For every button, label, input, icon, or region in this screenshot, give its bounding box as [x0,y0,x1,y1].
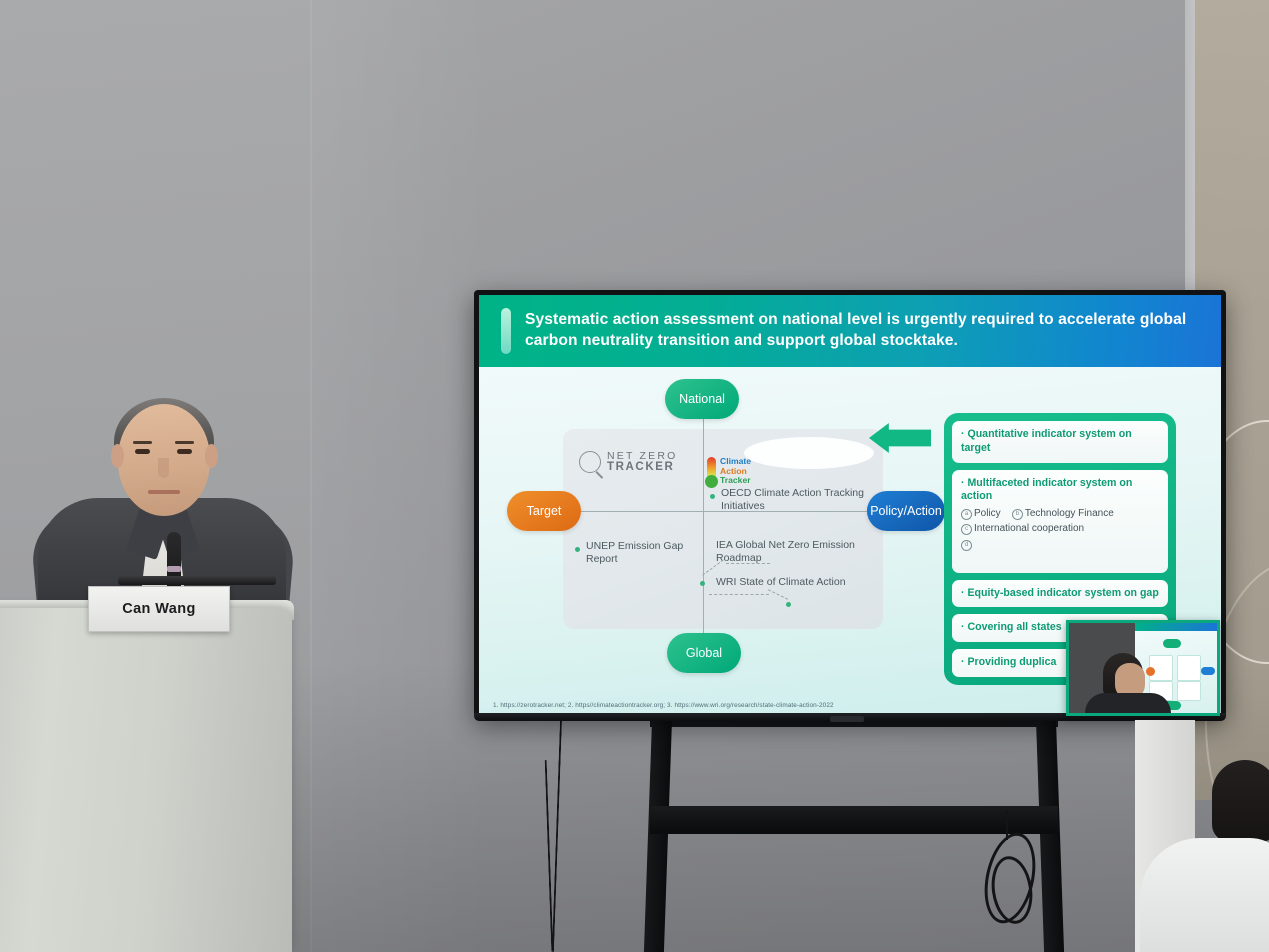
speaker-nose [158,458,169,478]
climate-action-tracker-logo: Climate Action Tracker [707,457,751,486]
attendee-shoulders [1140,838,1269,952]
node-wri: WRI State of Climate Action [716,576,876,589]
speaker-eye-right [177,449,192,454]
title-accent-bar [501,308,511,354]
circled-marker-c-icon: c [961,524,972,535]
nzt-logo-line2: TRACKER [607,462,678,474]
leader-line [726,563,770,564]
thermometer-icon [707,457,716,485]
panel-card-title: · Multifaceted indicator system on actio… [961,477,1159,505]
pip-quadrant [1177,681,1201,701]
panel-subitem-tech-finance: Technology Finance [1025,508,1114,519]
net-zero-tracker-logo: NET ZERO TRACKER [579,451,678,473]
axis-label-target: Target [507,491,581,531]
panel-card-multifaceted: · Multifaceted indicator system on actio… [952,470,1168,573]
speaker-nameplate: Can Wang [88,586,230,632]
podium [0,608,292,952]
pip-policy-pill [1201,667,1215,675]
speaker-name-text: Can Wang [122,601,196,617]
picture-in-picture-video[interactable] [1066,620,1220,716]
speaker-ear-right [205,444,218,468]
panel-subitem-policy: Policy [974,508,1001,519]
node-unep: UNEP Emission Gap Report [586,540,706,566]
axis-label-global: Global [667,633,741,673]
node-dot [575,547,580,552]
panel-card-quantitative: · Quantitative indicator system on targe… [952,421,1168,463]
slide-footnote: 1. https://zerotracker.net; 2. https//cl… [493,702,834,709]
vertical-axis [703,413,704,637]
attendee-head [1212,760,1269,842]
magnifier-icon [579,451,601,473]
axis-label-national: National [665,379,739,419]
cat-logo-line3: Tracker [720,476,751,486]
slide-title-bar: Systematic action assessment on national… [479,295,1221,367]
node-dot [700,581,705,586]
node-iea: IEA Global Net Zero Emission Roadmap [716,539,866,565]
speaker-eye-left [135,449,150,454]
tv-stand-crossbar [650,806,1058,834]
pip-pill-national [1163,639,1181,648]
circled-marker-d-icon: d [961,540,972,551]
conference-room-photo: Systematic action assessment on national… [0,0,1269,952]
tv-brand-logo [830,716,864,722]
pip-speaker-body [1085,693,1171,716]
panel-subitem-intl-coop: International cooperation [974,523,1084,534]
leader-line [709,594,769,595]
panel-card-title: · Quantitative indicator system on targe… [961,428,1159,456]
speaker-eyebrow-left [133,441,152,444]
panel-card-equity: · Equity-based indicator system on gap [952,580,1168,608]
speaker-ear-left [111,444,124,468]
node-dot [786,602,791,607]
speaker-mouth [148,490,180,494]
microphone-band [167,566,181,572]
speaker-eyebrow-right [175,441,194,444]
slide-title-text: Systematic action assessment on national… [525,310,1205,351]
node-oecd: OECD Climate Action Tracking Initiatives [721,487,879,513]
pip-target-pill [1146,667,1155,676]
white-ellipse-highlight [744,437,874,469]
pip-quadrant [1177,655,1201,681]
pip-slide-title-bar [1131,623,1217,631]
circled-marker-b-icon: b [1012,509,1023,520]
circled-marker-a-icon: a [961,509,972,520]
node-dot [710,494,715,499]
panel-card-title: · Equity-based indicator system on gap [961,587,1159,601]
podium-rail [118,576,276,585]
